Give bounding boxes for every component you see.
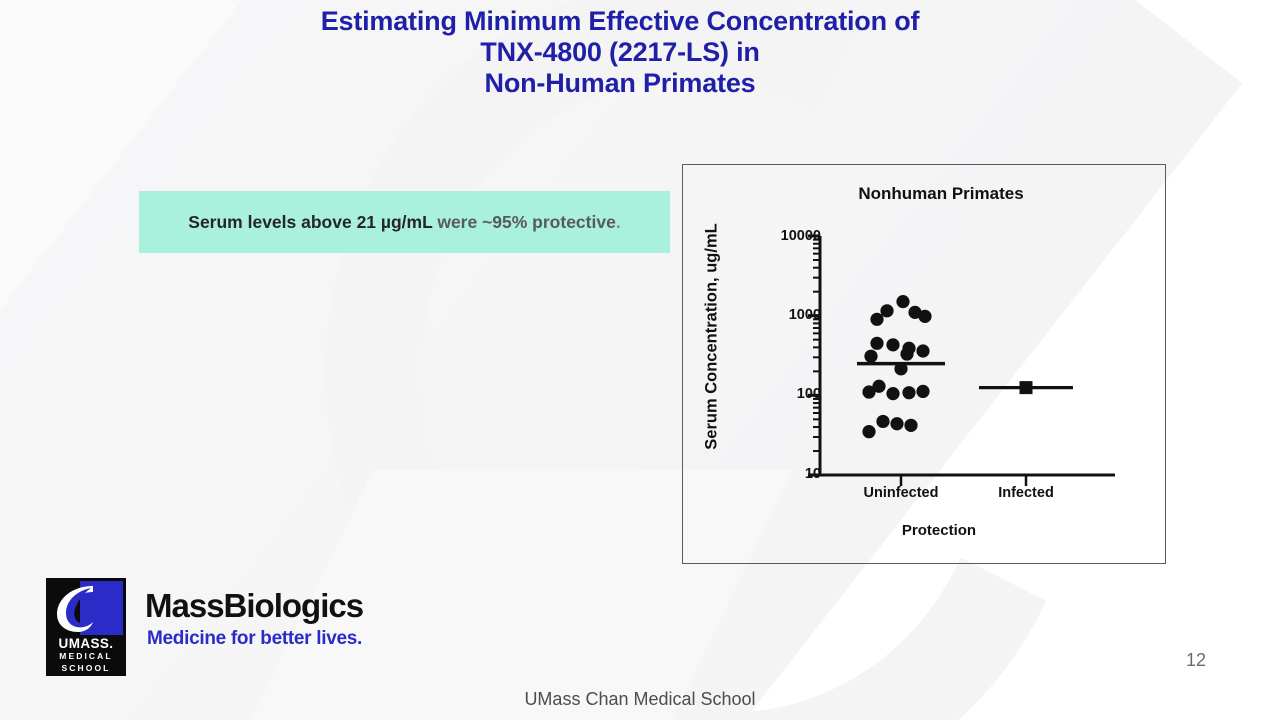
slide-footer: UMass Chan Medical School [0, 689, 1280, 710]
callout-text-secondary: were ~95% protective [437, 212, 616, 232]
chart-plot-area [683, 165, 1165, 563]
title-line-1: Estimating Minimum Effective Concentrati… [90, 6, 1150, 37]
umass-medical-school-mark: UMASS. MEDICAL SCHOOL [46, 578, 126, 676]
scatter-points-uninfected [862, 295, 931, 438]
title-line-2: TNX-4800 (2217-LS) in [90, 37, 1150, 68]
callout-text: Serum levels above 21 µg/mL were ~95% pr… [188, 210, 620, 235]
logo-umass-text: UMASS. [46, 636, 126, 651]
y-axis-major-ticks [808, 236, 820, 475]
logo-wordmark: MassBiologics [145, 587, 363, 625]
logo-school-text: SCHOOL [46, 663, 126, 673]
callout-box: Serum levels above 21 µg/mL were ~95% pr… [139, 191, 670, 253]
x-axis-ticks [901, 475, 1026, 486]
logo-medical-text: MEDICAL [46, 651, 126, 661]
massbiologics-logo: UMASS. MEDICAL SCHOOL MassBiologics Medi… [46, 578, 426, 676]
logo-swirl-icon [52, 583, 104, 635]
mean-lines [857, 364, 1073, 388]
page-number: 12 [1186, 650, 1206, 671]
slide-canvas: Estimating Minimum Effective Concentrati… [0, 0, 1280, 720]
callout-text-primary: Serum levels above 21 µg/mL [188, 212, 437, 232]
chart-inner: Nonhuman Primates Serum Concentration, u… [683, 165, 1165, 563]
logo-tagline: Medicine for better lives. [147, 628, 362, 650]
title-line-3: Non-Human Primates [90, 68, 1150, 99]
chart-container: Nonhuman Primates Serum Concentration, u… [682, 164, 1166, 564]
page-title: Estimating Minimum Effective Concentrati… [90, 6, 1150, 99]
callout-text-period: . [616, 212, 621, 232]
